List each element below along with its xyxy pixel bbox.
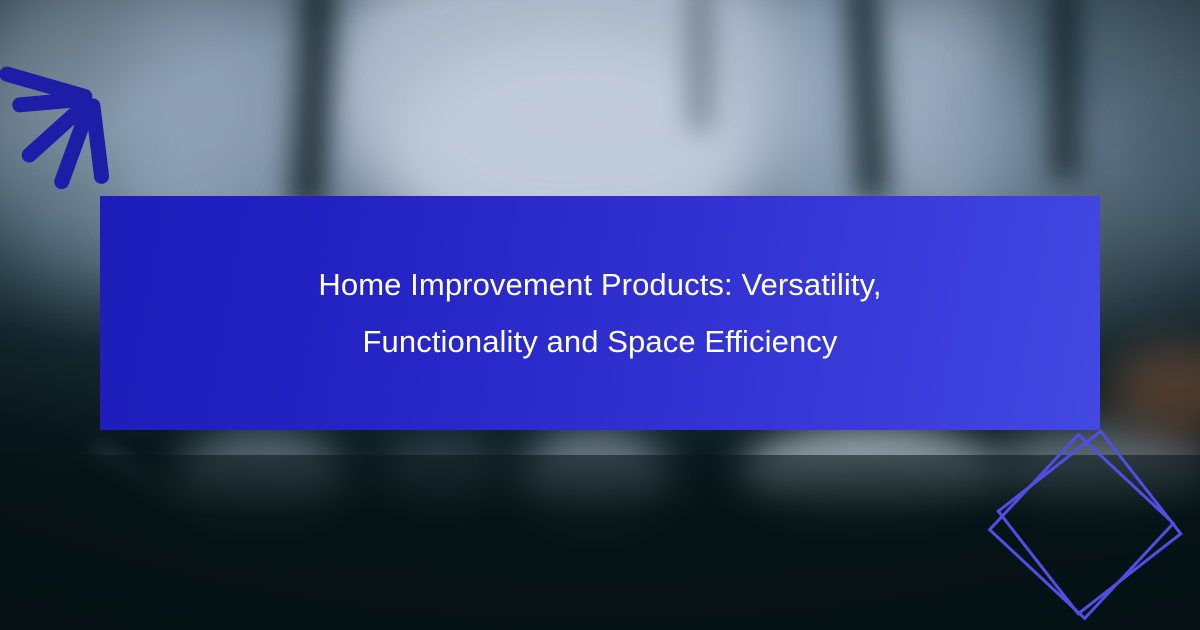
share-card-canvas: Home Improvement Products: Versatility, … [0,0,1200,630]
rotated-squares-decoration [985,420,1200,630]
sparkle-burst-icon [0,0,200,180]
title-banner: Home Improvement Products: Versatility, … [100,196,1100,430]
square-outline [996,429,1183,616]
page-title: Home Improvement Products: Versatility, … [318,256,881,371]
